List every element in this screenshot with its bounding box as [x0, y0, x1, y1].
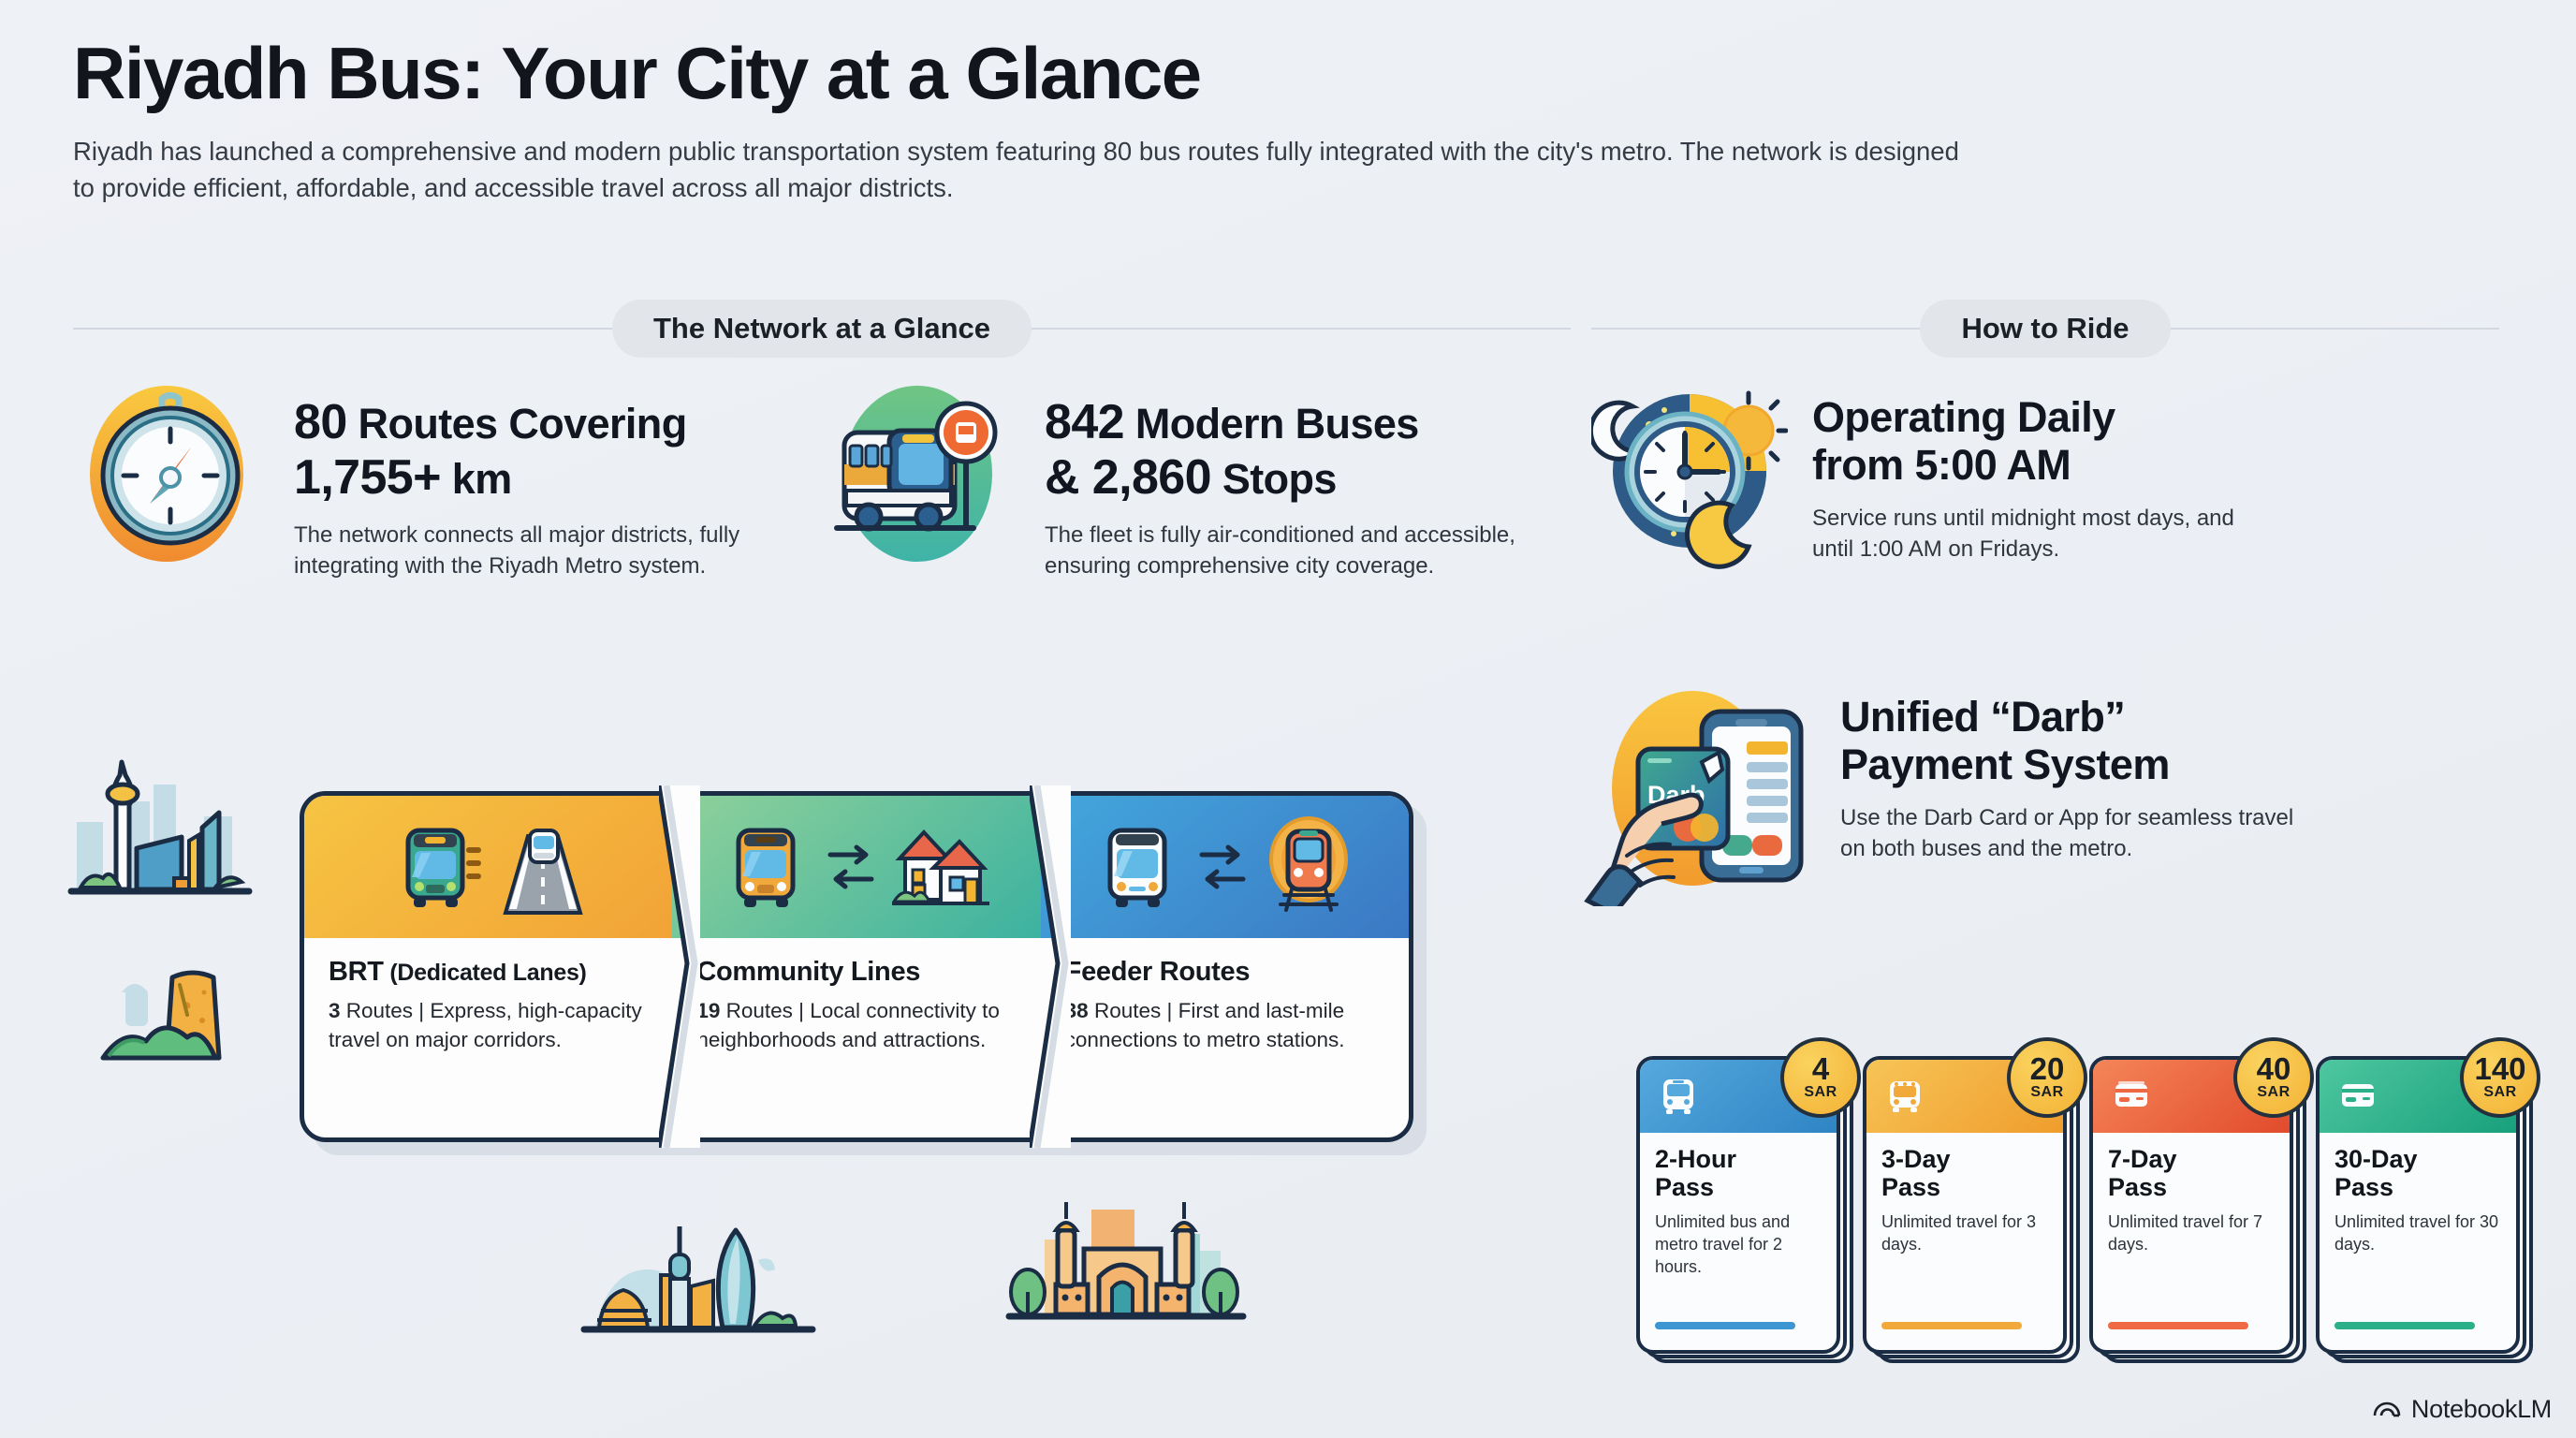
bus-metro-icon — [1041, 796, 1409, 938]
divider-line-right — [1032, 328, 1571, 330]
stat-routes-headline: 80 Routes Covering 1,755+ km — [294, 395, 781, 506]
travel-card-icon — [2108, 1073, 2155, 1124]
bus-lane-icon — [304, 796, 672, 938]
pass-desc: Unlimited travel for 7 days. — [2108, 1211, 2275, 1256]
pass-desc: Unlimited bus and metro travel for 2 hou… — [1655, 1211, 1822, 1278]
section-pill-ride: How to Ride — [1920, 300, 2170, 358]
stat-operating-hours: Operating Daily from 5:00 AM Service run… — [1591, 373, 2527, 574]
stat-routes-value: 80 — [294, 395, 347, 449]
pass-accent-bar — [2108, 1322, 2248, 1329]
pass-accent-bar — [1881, 1322, 2022, 1329]
pass-desc: Unlimited travel for 30 days. — [2334, 1211, 2501, 1256]
pass-card-2hour[interactable]: 2-HourPass Unlimited bus and metro trave… — [1636, 1056, 1840, 1354]
hand-card-phone-icon: Darb — [1582, 672, 1816, 911]
price-badge: 40 SAR — [2233, 1037, 2314, 1118]
kingdom-tower-illustration — [571, 1208, 852, 1353]
pass-card-30day[interactable]: 30-DayPass Unlimited travel for 30 days.… — [2316, 1056, 2520, 1354]
route-type-card-brt[interactable]: BRT (Dedicated Lanes) 3 Routes | Express… — [304, 796, 672, 1137]
pass-name: 3-DayPass — [1881, 1146, 2048, 1201]
route-type-title: BRT (Dedicated Lanes) — [329, 957, 650, 988]
pass-name: 30-DayPass — [2334, 1146, 2501, 1201]
riyadh-skyline-illustration — [64, 749, 279, 922]
pass-card-3day[interactable]: 3-DayPass Unlimited travel for 3 days. 2… — [1863, 1056, 2067, 1354]
route-type-title: Community Lines — [696, 957, 1017, 988]
price-badge: 20 SAR — [2007, 1037, 2087, 1118]
bus-front-icon — [1655, 1073, 1702, 1124]
price-value: 40 — [2257, 1054, 2291, 1083]
section-pill-network: The Network at a Glance — [612, 300, 1032, 358]
stat-hours-desc: Service runs until midnight most days, a… — [1812, 503, 2280, 565]
infographic-page: Riyadh Bus: Your City at a Glance Riyadh… — [0, 0, 2576, 1438]
stat-darb-payment: Darb Unified “Darb” Payment System Use t… — [1582, 672, 2527, 911]
stat-fleet-headline: 842 Modern Buses & 2,860 Stops — [1045, 395, 1531, 506]
watermark: NotebookLM — [2373, 1394, 2552, 1425]
price-value: 20 — [2030, 1054, 2065, 1083]
section-header-network: The Network at a Glance — [73, 300, 1571, 358]
pass-desc: Unlimited travel for 3 days. — [1881, 1211, 2048, 1256]
price-currency: SAR — [2257, 1084, 2290, 1101]
stat-fleet: 842 Modern Buses & 2,860 Stops The fleet… — [824, 374, 1554, 582]
page-title: Riyadh Bus: Your City at a Glance — [73, 36, 2039, 112]
stat-routes-km: 1,755+ — [294, 450, 441, 505]
bus-stop-icon — [824, 374, 1020, 576]
stat-routes-desc: The network connects all major districts… — [294, 520, 781, 582]
route-type-card-community[interactable]: Community Lines 19 Routes | Local connec… — [672, 796, 1040, 1137]
price-value: 140 — [2474, 1054, 2525, 1083]
travel-card-icon — [2334, 1073, 2381, 1124]
route-types-banner: BRT (Dedicated Lanes) 3 Routes | Express… — [300, 791, 1413, 1142]
price-badge: 140 SAR — [2460, 1037, 2540, 1118]
route-type-card-feeder[interactable]: Feeder Routes 38 Routes | First and last… — [1041, 796, 1409, 1137]
divider-line-left — [73, 328, 612, 330]
route-type-detail: 19 Routes | Local connectivity to neighb… — [696, 997, 1017, 1054]
route-type-title: Feeder Routes — [1065, 957, 1386, 988]
price-currency: SAR — [2483, 1084, 2516, 1101]
price-currency: SAR — [2030, 1084, 2063, 1101]
page-subtitle: Riyadh has launched a comprehensive and … — [73, 133, 1964, 207]
pass-name: 2-HourPass — [1655, 1146, 1822, 1201]
stat-fleet-value: 842 — [1045, 395, 1124, 449]
route-type-detail: 38 Routes | First and last-mile connecti… — [1065, 997, 1386, 1054]
stat-darb-desc: Use the Darb Card or App for seamless tr… — [1840, 802, 2308, 865]
route-type-detail: 3 Routes | Express, high-capacity travel… — [329, 997, 650, 1054]
pass-accent-bar — [2334, 1322, 2475, 1329]
fare-passes-list: 2-HourPass Unlimited bus and metro trave… — [1636, 1056, 2520, 1354]
stat-fleet-stops: & 2,860 — [1045, 450, 1211, 505]
bus-house-icon — [672, 796, 1040, 938]
stat-fleet-desc: The fleet is fully air-conditioned and a… — [1045, 520, 1531, 582]
historic-gate-illustration — [1002, 1198, 1273, 1343]
desert-landmark-illustration — [94, 936, 281, 1072]
notebooklm-logo-icon — [2373, 1394, 2401, 1425]
banner-body: BRT (Dedicated Lanes) 3 Routes | Express… — [300, 791, 1413, 1142]
stat-darb-headline: Unified “Darb” Payment System — [1840, 693, 2308, 789]
pass-accent-bar — [1655, 1322, 1795, 1329]
pass-name: 7-DayPass — [2108, 1146, 2275, 1201]
price-badge: 4 SAR — [1780, 1037, 1861, 1118]
clock-day-night-icon — [1591, 373, 1788, 574]
pass-card-7day[interactable]: 7-DayPass Unlimited travel for 7 days. 4… — [2089, 1056, 2293, 1354]
header: Riyadh Bus: Your City at a Glance Riyadh… — [73, 36, 2039, 207]
price-value: 4 — [1812, 1054, 1829, 1083]
stat-hours-headline: Operating Daily from 5:00 AM — [1812, 393, 2280, 490]
section-header-ride: How to Ride — [1591, 300, 2499, 358]
divider-line-right — [2171, 328, 2499, 330]
watermark-label: NotebookLM — [2411, 1395, 2552, 1424]
bus-front-icon — [1881, 1073, 1928, 1124]
divider-line-left — [1591, 328, 1920, 330]
stat-routes: 80 Routes Covering 1,755+ km The network… — [73, 374, 822, 582]
compass-icon — [73, 374, 270, 576]
price-currency: SAR — [1804, 1084, 1837, 1101]
